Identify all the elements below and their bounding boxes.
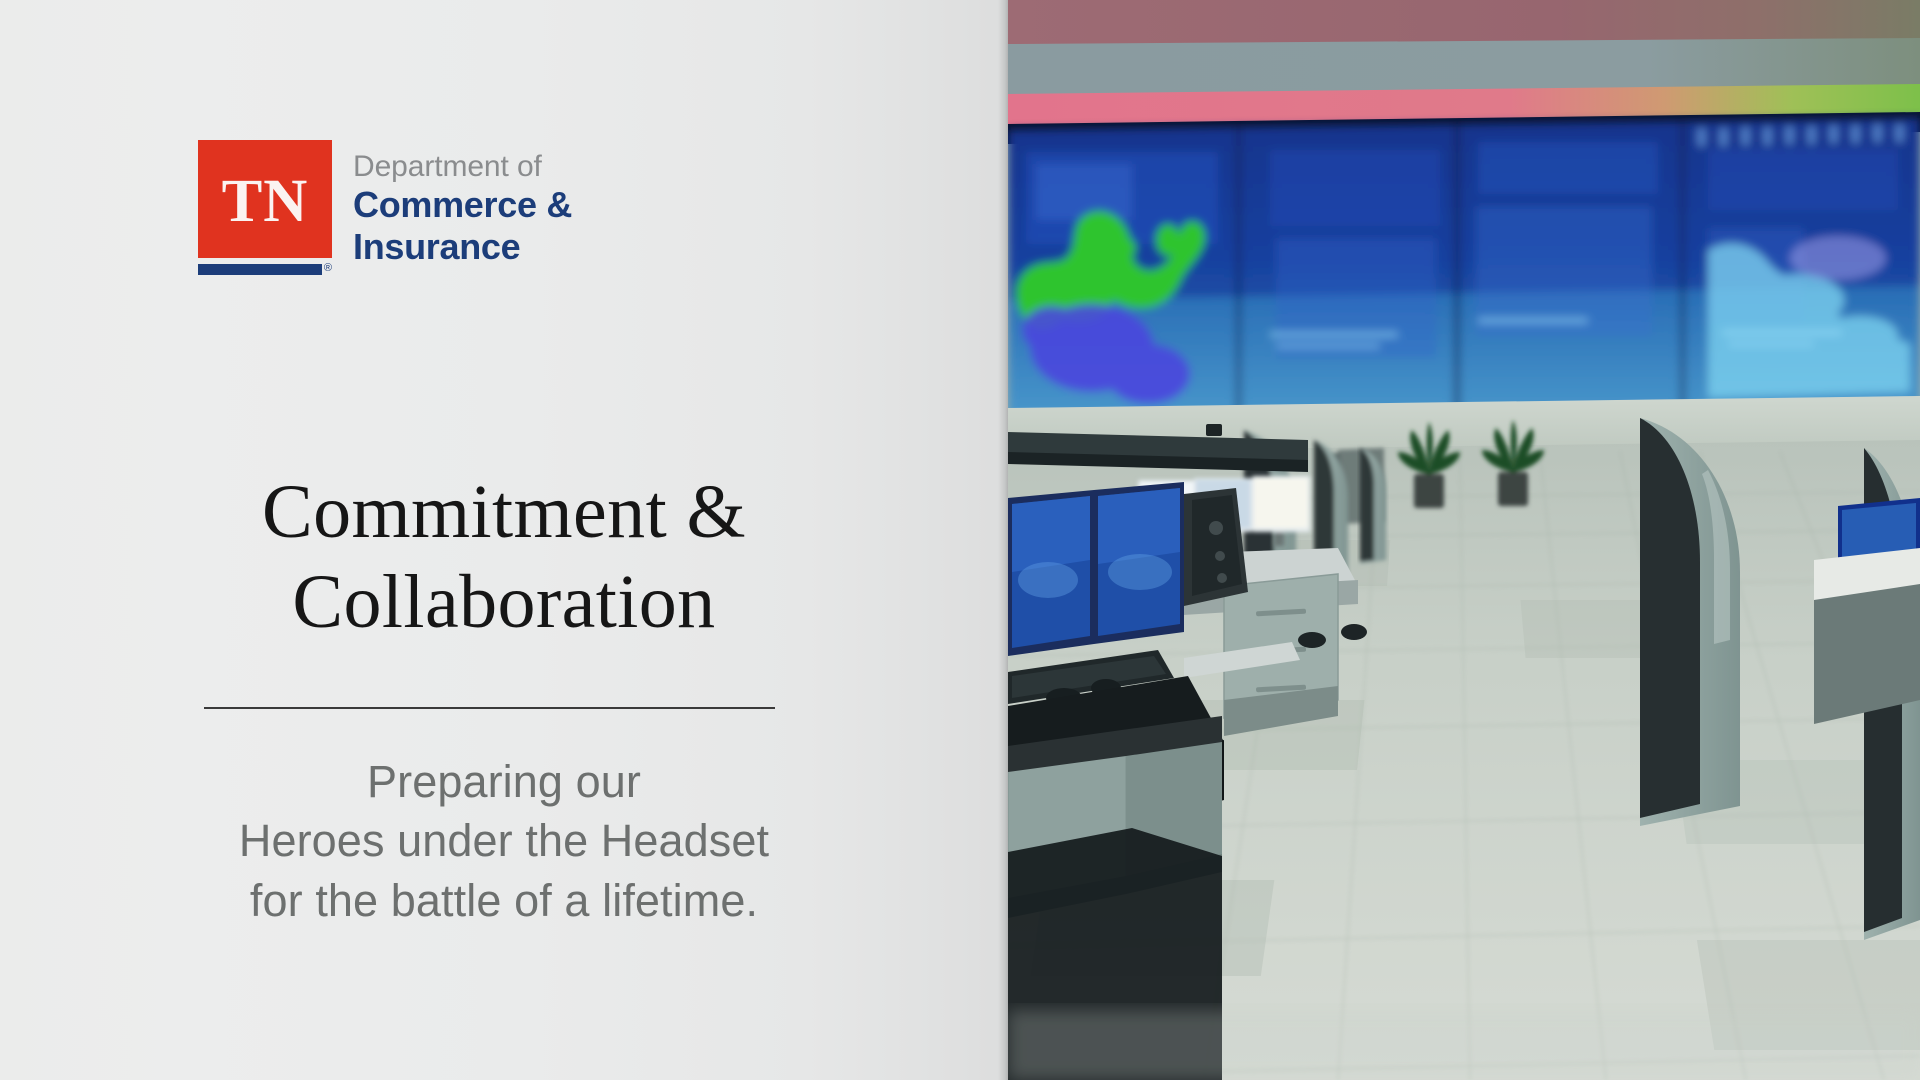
left-content-panel: TN ® Department of Commerce & Insurance … xyxy=(0,0,1008,1080)
tn-logo-underbar-row: ® xyxy=(198,264,332,275)
logo-wordmark: Department of Commerce & Insurance xyxy=(353,140,572,267)
tn-red-square-icon: TN xyxy=(198,140,332,258)
subtitle-container: Preparing our Heroes under the Headset f… xyxy=(0,752,1008,930)
tn-commerce-insurance-logo: TN ® Department of Commerce & Insurance xyxy=(198,140,572,275)
tn-navy-bar-icon xyxy=(198,264,322,275)
dispatch-center-illustration xyxy=(1008,0,1920,1080)
dispatch-center-photo xyxy=(1008,0,1920,1080)
tn-monogram: TN xyxy=(222,171,309,232)
registered-trademark-icon: ® xyxy=(324,263,332,274)
logo-department-line: Department of xyxy=(353,151,572,183)
logo-agency-line-1: Commerce & xyxy=(353,185,572,225)
slide-title: Commitment & Collaboration xyxy=(60,468,948,647)
title-divider-rule xyxy=(204,707,775,709)
tn-logo-mark: TN ® xyxy=(198,140,332,275)
title-container: Commitment & Collaboration xyxy=(0,468,1008,647)
slide-subtitle: Preparing our Heroes under the Headset f… xyxy=(40,752,968,930)
presentation-slide: TN ® Department of Commerce & Insurance … xyxy=(0,0,1920,1080)
logo-agency-line-2: Insurance xyxy=(353,227,572,267)
